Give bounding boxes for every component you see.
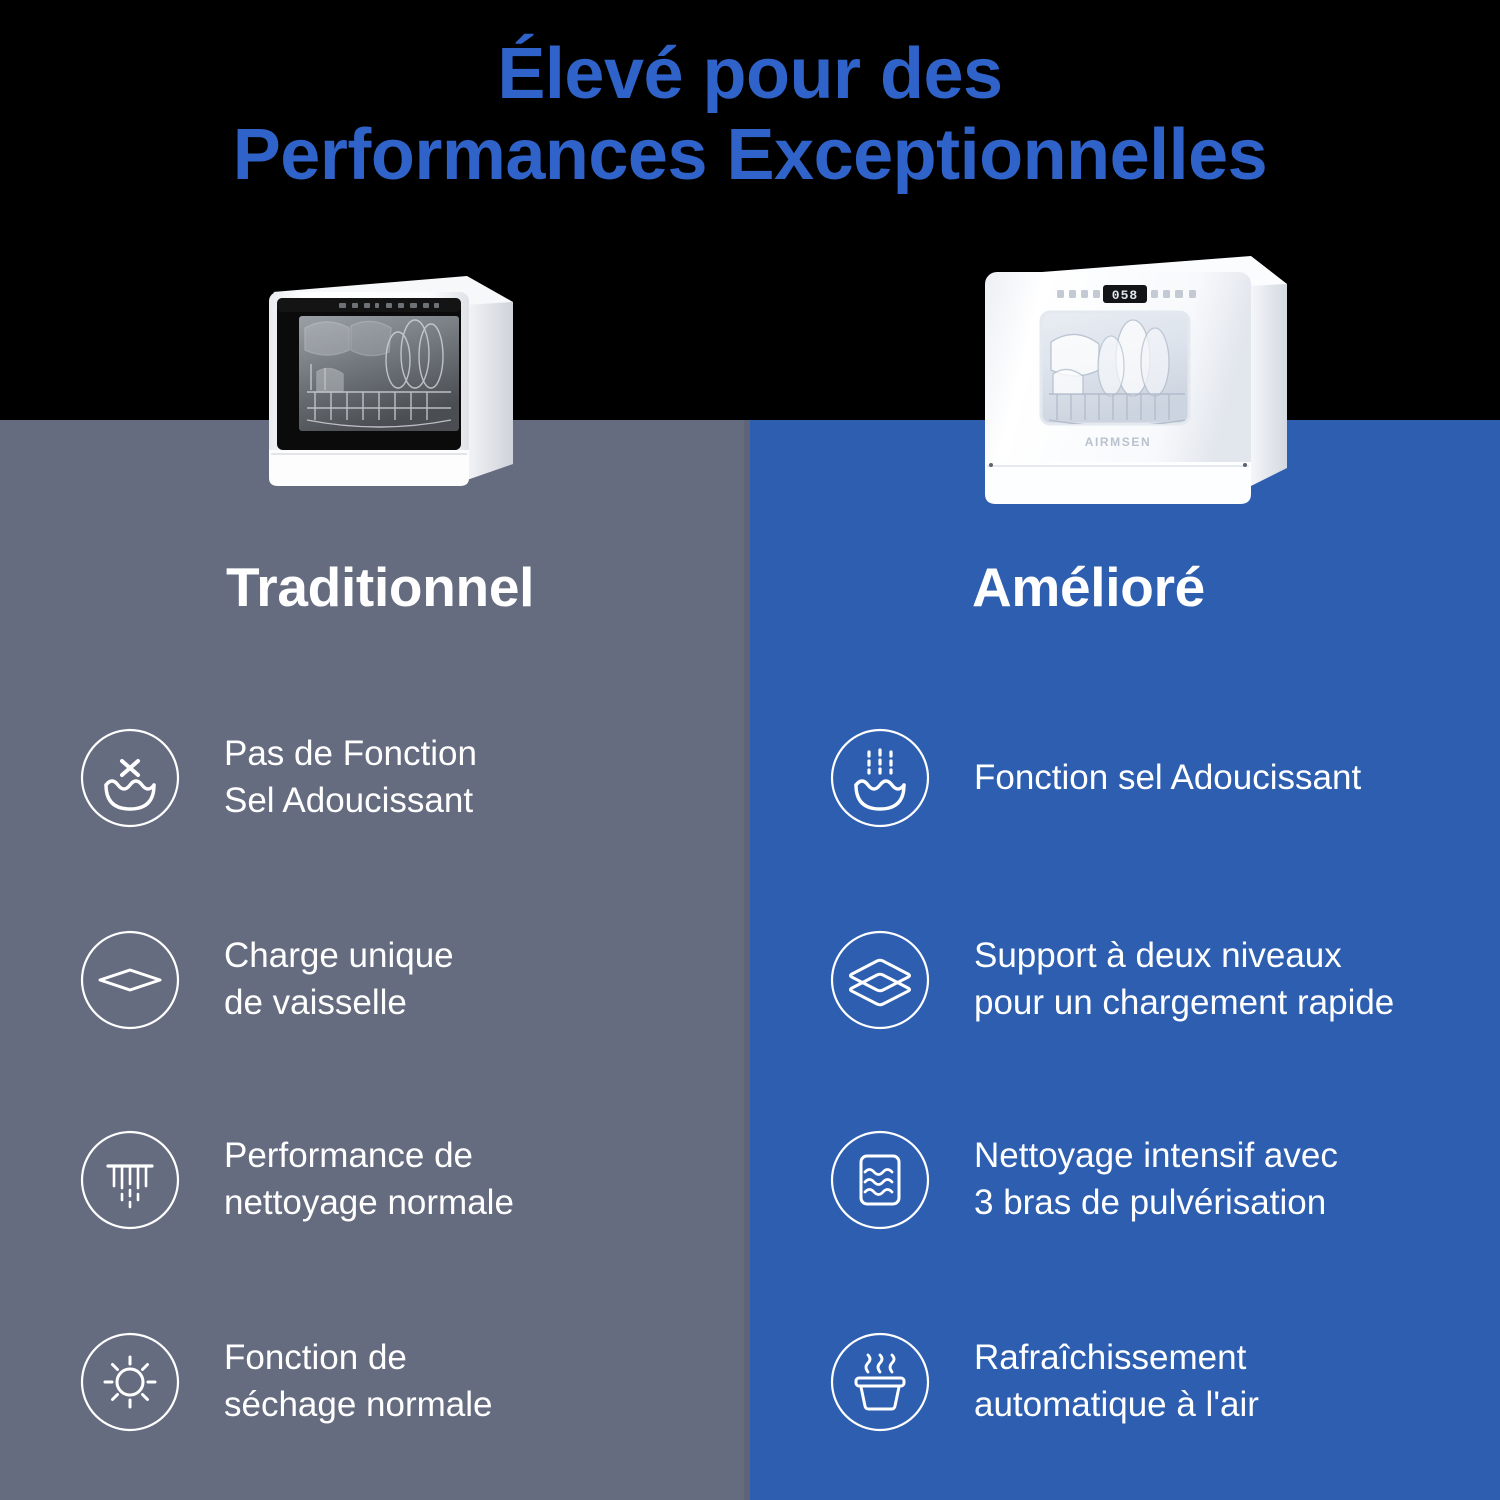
panel-divider: [744, 420, 750, 1500]
feature-row-upgraded-4: Rafraîchissement automatique à l'air: [830, 1332, 1259, 1432]
feature-label: Performance de nettoyage normale: [224, 1133, 514, 1227]
feature-row-upgraded-3: Nettoyage intensif avec 3 bras de pulvér…: [830, 1130, 1338, 1230]
feature-row-traditional-1: Pas de Fonction Sel Adoucissant: [80, 728, 477, 828]
column-heading-traditional: Traditionnel: [226, 555, 534, 619]
feature-row-upgraded-2: Support à deux niveaux pour un chargemen…: [830, 930, 1394, 1030]
intensive-wash-waves-icon: [830, 1130, 930, 1230]
feature-label: Support à deux niveaux pour un chargemen…: [974, 933, 1394, 1027]
feature-row-traditional-3: Performance de nettoyage normale: [80, 1130, 514, 1230]
feature-row-upgraded-1: Fonction sel Adoucissant: [830, 728, 1361, 828]
feature-label: Pas de Fonction Sel Adoucissant: [224, 731, 477, 825]
page-title: Élevé pour des Performances Exceptionnel…: [0, 34, 1500, 195]
feature-label: Nettoyage intensif avec 3 bras de pulvér…: [974, 1133, 1338, 1227]
feature-label: Fonction sel Adoucissant: [974, 755, 1361, 802]
feature-label: Fonction de séchage normale: [224, 1335, 493, 1429]
infographic-root: Élevé pour des Performances Exceptionnel…: [0, 0, 1500, 1500]
spray-bar-icon: [80, 1130, 180, 1230]
feature-label: Rafraîchissement automatique à l'air: [974, 1335, 1259, 1429]
led-display-value: 058: [1112, 288, 1138, 303]
feature-label: Charge unique de vaisselle: [224, 933, 454, 1027]
salt-softener-icon: [830, 728, 930, 828]
sun-drying-icon: [80, 1332, 180, 1432]
control-icons: [339, 303, 439, 308]
single-layer-rack-icon: [80, 930, 180, 1030]
feature-row-traditional-4: Fonction de séchage normale: [80, 1332, 493, 1432]
feature-row-traditional-2: Charge unique de vaisselle: [80, 930, 454, 1030]
no-salt-softener-icon: [80, 728, 180, 828]
upgraded-dishwasher-image: 058 AIRMSEN: [965, 246, 1305, 528]
brand-logo-text: AIRMSEN: [1085, 435, 1152, 449]
traditional-dishwasher-image: [255, 268, 525, 508]
air-refresh-steam-icon: [830, 1332, 930, 1432]
two-layer-rack-icon: [830, 930, 930, 1030]
column-heading-upgraded: Amélioré: [972, 555, 1205, 619]
